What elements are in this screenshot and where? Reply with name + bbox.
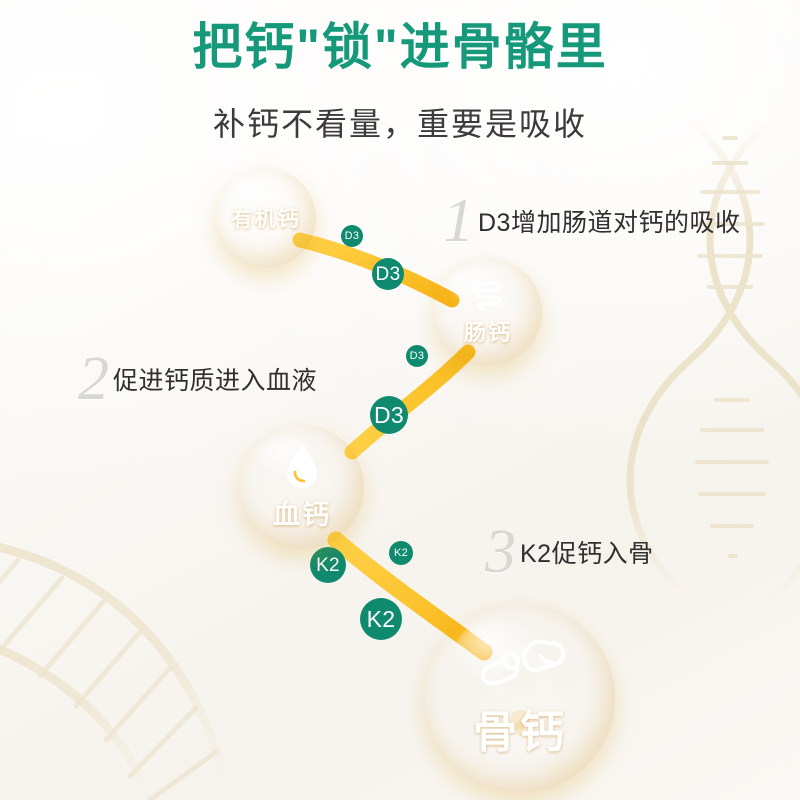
page-subtitle: 补钙不看量，重要是吸收	[0, 99, 800, 145]
page-title: 把钙"锁"进骨骼里	[0, 18, 800, 77]
infographic-canvas: D3 D3 D3 D3 K2 K2 K2 有机钙	[0, 0, 800, 800]
heading-group: 把钙"锁"进骨骼里 补钙不看量，重要是吸收	[0, 0, 800, 800]
